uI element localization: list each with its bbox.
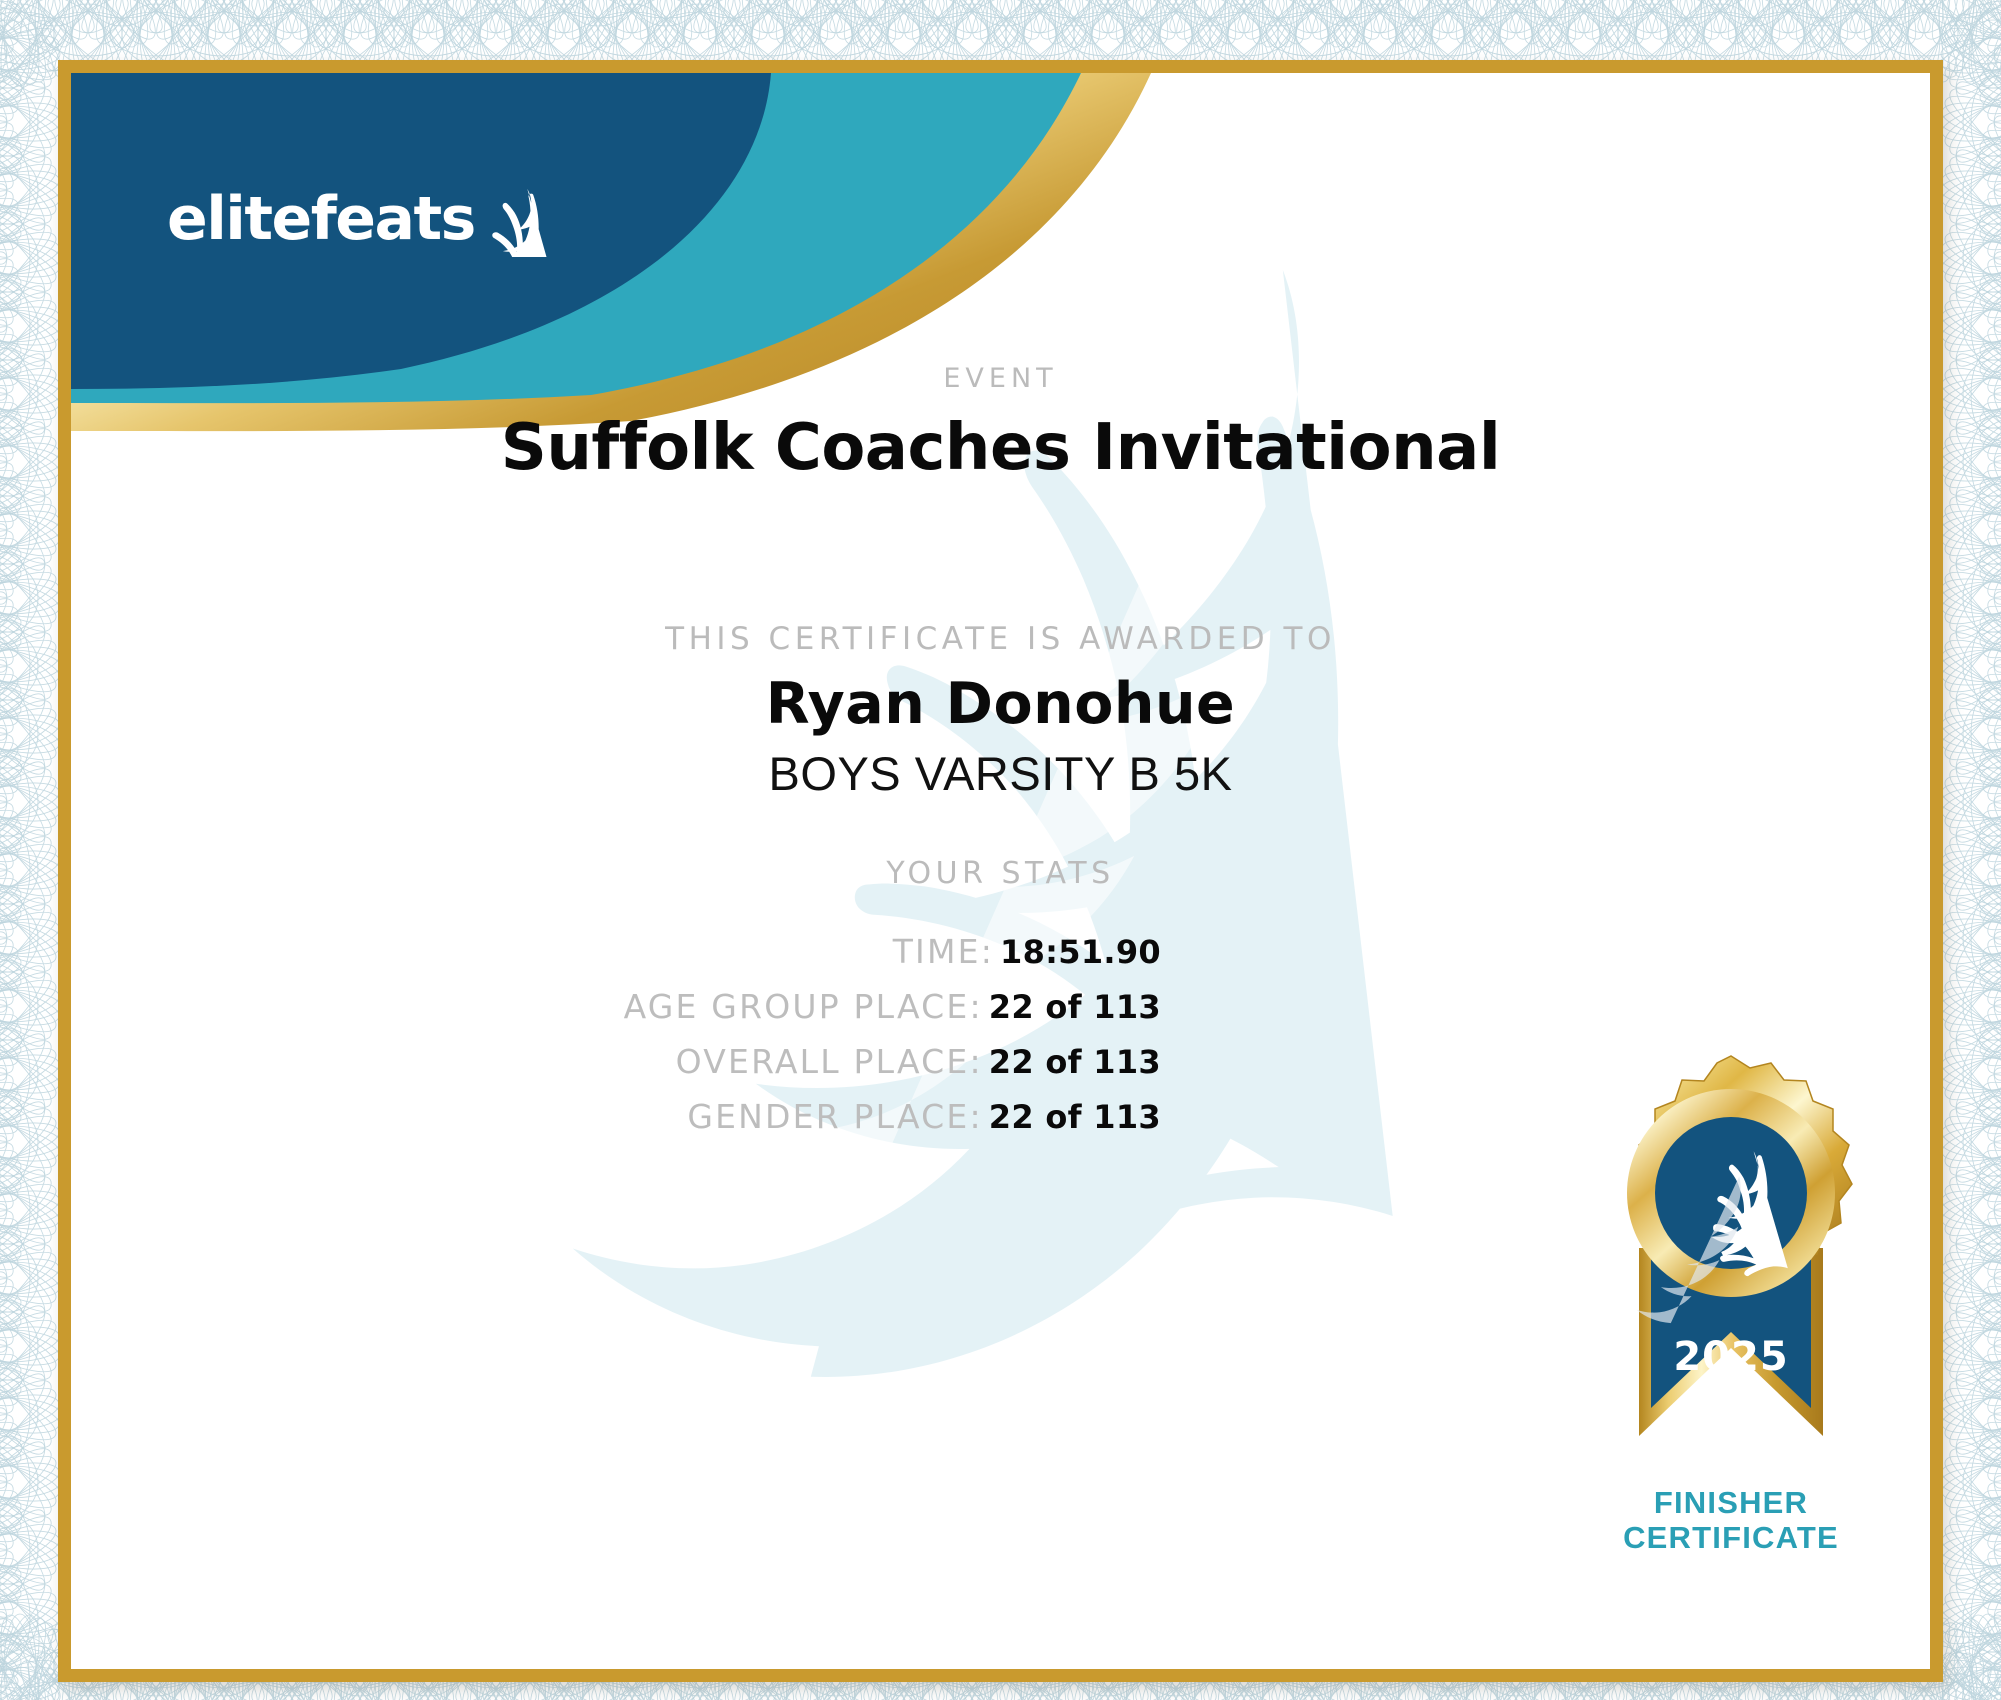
stat-row: TIME:18:51.90 [71, 933, 1161, 988]
stat-value: 22 of 113 [989, 988, 1161, 1026]
finisher-medal: 2025 FINISHER CERTIFICATE [1531, 1048, 1930, 1555]
stat-key: AGE GROUP PLACE: [624, 987, 983, 1026]
stat-row: AGE GROUP PLACE:22 of 113 [71, 988, 1161, 1043]
stats-list: TIME:18:51.90 AGE GROUP PLACE:22 of 113 … [71, 933, 1161, 1153]
certificate-page: elitefeats EVENT Suffolk Coaches Invitat… [0, 0, 2001, 1700]
stat-key: OVERALL PLACE: [676, 1042, 983, 1081]
stat-key: TIME: [893, 932, 994, 971]
recipient-name: Ryan Donohue [71, 671, 1930, 737]
certificate-content: EVENT Suffolk Coaches Invitational THIS … [71, 73, 1930, 1669]
winged-foot-icon [477, 183, 551, 257]
logo-wordmark: elitefeats [167, 189, 475, 249]
medal-caption-line1: FINISHER [1531, 1486, 1930, 1521]
award-medal-icon: 2025 [1531, 1048, 1930, 1478]
winged-foot-icon [1637, 1151, 1788, 1323]
medal-caption: FINISHER CERTIFICATE [1531, 1486, 1930, 1555]
winged-foot-watermark-icon [541, 213, 1691, 1393]
medal-caption-line2: CERTIFICATE [1531, 1521, 1930, 1556]
event-label: EVENT [71, 363, 1930, 394]
stat-value: 18:51.90 [1000, 933, 1161, 971]
stat-value: 22 of 113 [989, 1098, 1161, 1136]
medal-year: 2025 [1673, 1334, 1788, 1380]
certificate-body: elitefeats EVENT Suffolk Coaches Invitat… [71, 73, 1930, 1669]
stat-row: OVERALL PLACE:22 of 113 [71, 1043, 1161, 1098]
stat-row: GENDER PLACE:22 of 113 [71, 1098, 1161, 1153]
stat-value: 22 of 113 [989, 1043, 1161, 1081]
your-stats-label: YOUR STATS [71, 856, 1930, 891]
division-name: BOYS VARSITY B 5K [71, 746, 1930, 801]
elitefeats-logo: elitefeats [167, 181, 551, 257]
certificate-frame: elitefeats EVENT Suffolk Coaches Invitat… [58, 60, 1943, 1682]
awarded-to-label: THIS CERTIFICATE IS AWARDED TO [71, 621, 1930, 657]
event-name: Suffolk Coaches Invitational [71, 411, 1930, 485]
stat-key: GENDER PLACE: [687, 1097, 982, 1136]
